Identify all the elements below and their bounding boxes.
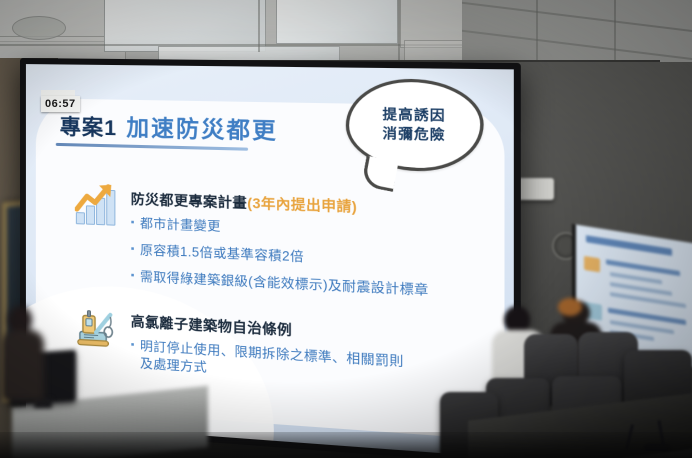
callout-bubble: 提高誘因 消彌危險 bbox=[346, 78, 484, 173]
section-1-bullet: ▪ 需取得綠建築銀級(含能效標示)及耐震設計標章 bbox=[131, 268, 429, 300]
section-1-bullet-text: 原容積1.5倍或基準容積2倍 bbox=[140, 242, 304, 267]
bullet-dot-icon: ▪ bbox=[131, 268, 135, 283]
slide-title-tag: 專案1 bbox=[60, 111, 117, 143]
section-1-bullet: ▪ 原容積1.5倍或基準容積2倍 bbox=[131, 241, 429, 271]
section-1-heading-accent: (3年內提出申請) bbox=[247, 195, 357, 214]
conference-room-photo: 專案1 加速防災都更 提高誘因 消彌危險 bbox=[0, 0, 692, 458]
section-2-bullet-text: 明訂停止使用、限期拆除之標準、相關罰則及處理方式 bbox=[140, 338, 412, 390]
ceiling-light-panel bbox=[276, 0, 398, 44]
section-1-body: 防災都更專案計畫(3年內提出申請) ▪ 都市計畫變更 ▪ 原容積1.5倍或基準容… bbox=[131, 186, 429, 310]
excavator-icon bbox=[74, 305, 119, 350]
section-2-heading-main: 高氯離子建築物自治條例 bbox=[131, 314, 292, 338]
bullet-dot-icon: ▪ bbox=[131, 337, 135, 353]
bullet-dot-icon: ▪ bbox=[131, 215, 135, 230]
timestamp-overlay: 06:57 bbox=[41, 96, 80, 112]
ceiling-speaker bbox=[12, 16, 66, 40]
callout-line-1: 提高誘因 bbox=[382, 106, 445, 125]
person-at-desk bbox=[2, 306, 46, 402]
slide-title-main: 加速防災都更 bbox=[126, 110, 277, 146]
bullet-dot-icon: ▪ bbox=[131, 241, 135, 256]
callout-bubble-text: 提高誘因 消彌危險 bbox=[346, 78, 484, 173]
section-1-bullet-text: 需取得綠建築銀級(含能效標示)及耐震設計標章 bbox=[140, 268, 429, 299]
slide-title: 專案1 加速防災都更 bbox=[60, 109, 278, 147]
growth-chart-icon bbox=[74, 184, 119, 228]
section-1-heading-main: 防災都更專案計畫 bbox=[131, 192, 247, 211]
section-1-bullet: ▪ 都市計畫變更 bbox=[131, 215, 429, 244]
foreground-shadow bbox=[0, 432, 692, 458]
section-1-bullet-text: 都市計畫變更 bbox=[140, 215, 221, 235]
callout-line-2: 消彌危險 bbox=[382, 125, 445, 144]
section-2-bullet: ▪ 明訂停止使用、限期拆除之標準、相關罰則及處理方式 bbox=[131, 337, 412, 389]
rising-arrow-icon bbox=[75, 182, 120, 214]
slide-section-1: 防災都更專案計畫(3年內提出申請) ▪ 都市計畫變更 ▪ 原容積1.5倍或基準容… bbox=[74, 184, 429, 310]
